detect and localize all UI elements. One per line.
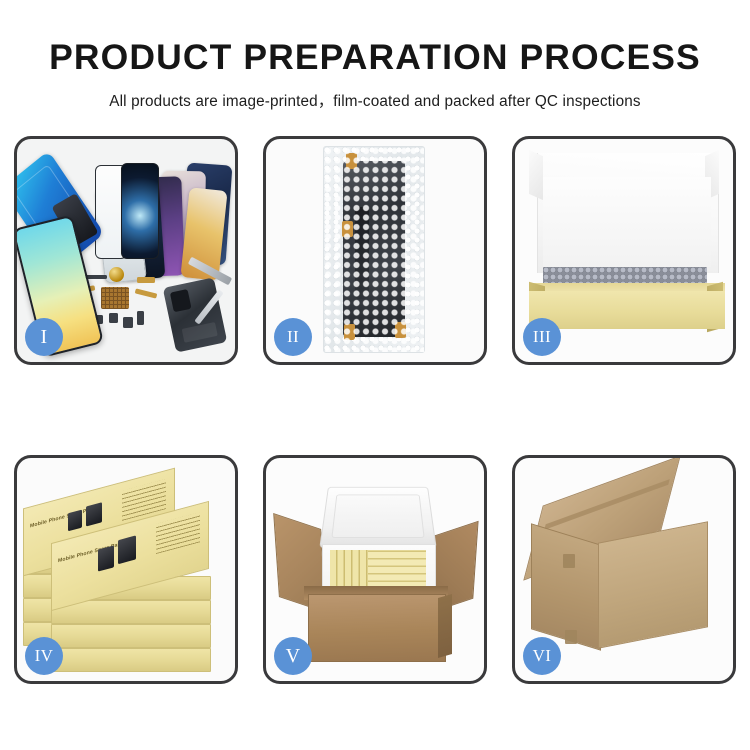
step-badge-2: II (274, 318, 312, 356)
step-badge-5: V (274, 637, 312, 675)
part-flex-cable-2 (135, 288, 158, 298)
process-step-1: I (14, 136, 238, 365)
page-title: PRODUCT PREPARATION PROCESS (0, 0, 750, 76)
bag-tab-4 (395, 322, 406, 338)
screen-protector-printed (121, 163, 159, 259)
part-flex-cable-1 (137, 277, 155, 283)
phone-back-housing (163, 277, 228, 352)
carton-tape-mark-2 (565, 630, 577, 644)
yellow-boxes-inside (330, 550, 426, 588)
bag-tab-2 (342, 221, 353, 237)
step-badge-3: III (523, 318, 561, 356)
step-badge-6: VI (523, 637, 561, 675)
process-step-6: VI (512, 455, 736, 684)
bag-tab-3 (344, 324, 355, 340)
page-subtitle: All products are image-printed，film-coat… (0, 76, 750, 111)
carton-tape-mark-1 (563, 554, 575, 568)
lid-flap-left (529, 150, 543, 200)
part-copper-mesh (101, 287, 129, 309)
carton-right-face (598, 521, 708, 648)
stacked-box-edge-8 (51, 624, 211, 648)
part-gold-coin (109, 267, 124, 282)
box-front-panel (529, 291, 725, 329)
process-step-3: III (512, 136, 736, 365)
part-chip-4 (137, 311, 144, 325)
box-spec-lines-front (156, 512, 200, 554)
step-badge-4: IV (25, 637, 63, 675)
process-step-grid: I II III (14, 136, 736, 684)
page-header: PRODUCT PREPARATION PROCESS All products… (0, 0, 750, 111)
box-window-front-2 (118, 535, 136, 564)
process-step-4: Mobile Phone Spare Parts Mobile Phone Sp… (14, 455, 238, 684)
box-window-rear-1 (68, 510, 82, 532)
carton-front-panel (308, 594, 446, 662)
process-step-5: V (263, 455, 487, 684)
foam-box-lid (319, 487, 436, 548)
stacked-box-edge-9 (51, 648, 211, 672)
bagged-lcd-part (343, 161, 405, 337)
bubble-wrap-bag (323, 146, 425, 353)
part-chip-3 (123, 317, 133, 328)
bag-tab-1 (346, 153, 357, 169)
foam-liner (543, 177, 711, 267)
process-step-2: II (263, 136, 487, 365)
box-window-front-1 (98, 545, 114, 571)
box-window-rear-2 (86, 502, 102, 526)
carton-side-panel (438, 594, 452, 658)
box-label-text-front: Mobile Phone Spare Parts (58, 540, 124, 564)
step-badge-1: I (25, 318, 63, 356)
part-chip-2 (109, 313, 118, 323)
